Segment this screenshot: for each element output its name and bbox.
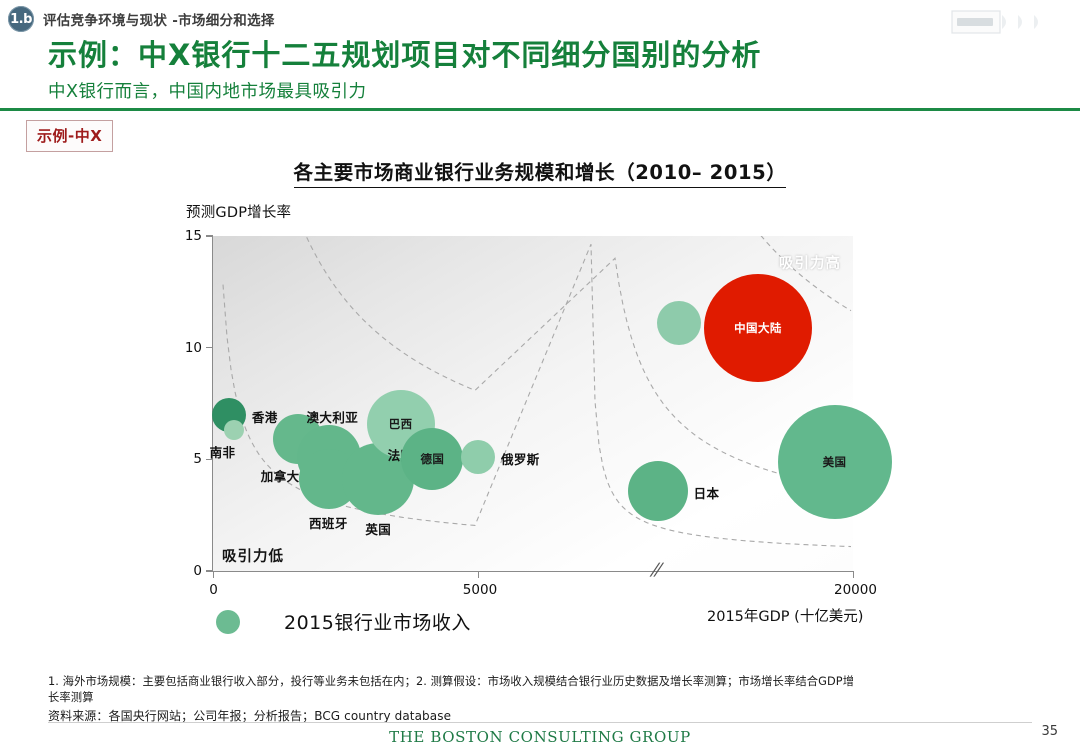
x-tick-label: 0 [209,582,218,598]
bubble-日本[interactable] [628,461,688,521]
y-tick-label: 5 [172,451,202,467]
bubble-美国[interactable]: 美国 [778,405,892,519]
y-tick-label: 15 [172,228,202,244]
bubble-label-加拿大: 加拿大 [261,466,300,485]
chart-title: 各主要市场商业银行业务规模和增长（2010– 2015） [0,156,1080,185]
progress-indicator-icon [946,7,1064,37]
bubble-label-法国: 法国 [388,445,414,464]
step-badge: 1.b [8,6,34,32]
legend-bubble-icon [216,610,240,634]
bubble-香港[interactable] [212,398,246,432]
bubble-俄罗斯[interactable] [461,440,495,474]
x-tick [853,571,854,578]
bubble-label-香港: 香港 [252,407,278,426]
y-tick-label: 0 [172,563,202,579]
slide-root: 1.b 评估竞争环境与现状 -市场细分和选择 示例：中X银行十二五规划项目对不同… [0,0,1080,748]
y-tick [206,570,213,571]
bubble-中国大陆[interactable]: 中国大陆 [704,274,812,382]
iso-curve-1 [223,244,851,546]
plot-background [213,236,853,571]
y-tick-label: 10 [172,340,202,356]
annotation-low-attractiveness: 吸引力低 [222,545,284,566]
iso-curve-2 [303,236,851,490]
chart-plot: // 0510150500020000 香港南非加拿大澳大利亚西班牙英国巴西法国… [0,0,1080,748]
legend-label: 2015银行业市场收入 [284,608,471,635]
bubble-英国[interactable] [342,443,414,515]
bubble-加拿大[interactable] [273,414,323,464]
bubble-label-英国: 英国 [365,519,391,538]
page-title: 示例：中X银行十二五规划项目对不同细分国别的分析 [48,32,761,74]
iso-curve-3 [755,236,851,311]
footer-divider [48,722,1032,723]
header-divider [0,108,1080,111]
footnote-1-cont: 长率测算 [48,690,1048,706]
x-axis-line [212,571,854,572]
chart-title-text: 各主要市场商业银行业务规模和增长（2010– 2015） [294,161,787,188]
x-axis-label: 2015年GDP (十亿美元) [707,605,863,626]
chart-legend: 2015银行业市场收入 [216,608,471,635]
x-tick-label: 20000 [834,582,877,598]
y-axis-label: 预测GDP增长率 [186,201,291,222]
footnote-1: 1. 海外市场规模：主要包括商业银行收入部分，投行等业务未包括在内；2. 测算假… [48,674,1048,690]
breadcrumb: 1.b 评估竞争环境与现状 -市场细分和选择 [8,6,275,32]
annotation-high-attractiveness: 吸引力高 [779,252,841,273]
bubble-label-俄罗斯: 俄罗斯 [501,449,540,468]
y-tick [206,347,213,348]
y-tick [206,235,213,236]
bubble-label-澳大利亚: 澳大利亚 [307,407,359,426]
bubble-澳大利亚[interactable] [297,425,361,489]
bubble-label-日本: 日本 [694,483,720,502]
x-tick-label: 5000 [463,582,497,598]
x-axis-break-icon: // [648,560,663,580]
breadcrumb-label: 评估竞争环境与现状 -市场细分和选择 [43,9,275,29]
iso-attractiveness-curves [213,236,853,571]
y-axis-line [212,236,213,572]
bubble-label-西班牙: 西班牙 [309,513,348,532]
bubble-德国[interactable]: 德国 [401,428,463,490]
bubble-label-南非: 南非 [210,442,236,461]
footnotes: 1. 海外市场规模：主要包括商业银行收入部分，投行等业务未包括在内；2. 测算假… [48,674,1048,724]
page-subtitle: 中X银行而言，中国内地市场最具吸引力 [48,78,367,103]
brand-logo: THE BOSTON CONSULTING GROUP [0,728,1080,746]
y-tick [206,459,213,460]
bubble-西班牙[interactable] [299,449,359,509]
bubble-印度[interactable] [657,301,701,345]
bubble-巴西[interactable]: 巴西 [367,390,435,458]
bubble-南非[interactable] [224,420,244,440]
x-tick [213,571,214,578]
page-number: 35 [1041,724,1058,739]
bubble-label-印度: 印度 [707,315,733,334]
status-badge: 示例-中X [26,120,113,152]
x-tick [478,571,479,578]
